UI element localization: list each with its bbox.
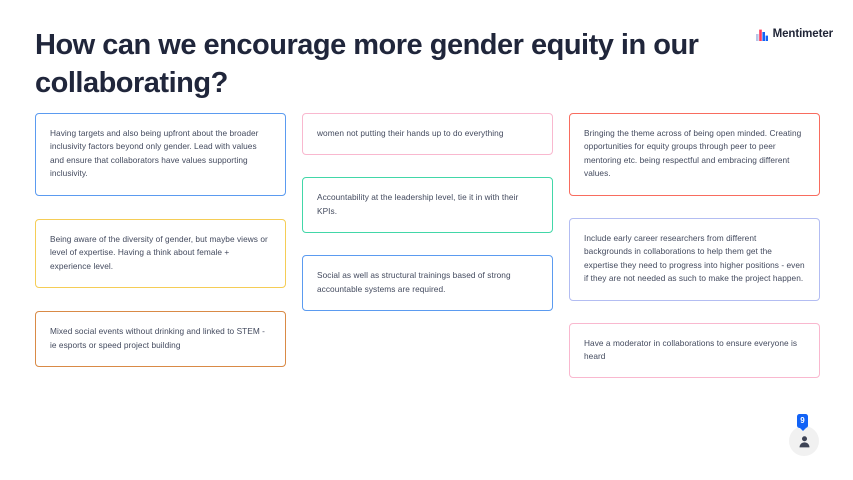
participant-count-badge: 9 [797,414,808,428]
board-column-1: Having targets and also being upfront ab… [35,113,286,367]
response-card[interactable]: Include early career researchers from di… [569,218,820,301]
response-card[interactable]: women not putting their hands up to do e… [302,113,553,155]
response-card[interactable]: Having targets and also being upfront ab… [35,113,286,196]
response-card[interactable]: Social as well as structural trainings b… [302,255,553,311]
response-card[interactable]: Accountability at the leadership level, … [302,177,553,233]
board-column-3: Bringing the theme across of being open … [569,113,820,378]
response-card[interactable]: Bringing the theme across of being open … [569,113,820,196]
mentimeter-bars-icon [756,29,768,41]
brand-name: Mentimeter [773,29,833,41]
participant-counter[interactable]: 9 [789,426,819,456]
slide-title: How can we encourage more gender equity … [35,26,725,103]
response-board: Having targets and also being upfront ab… [35,113,821,378]
board-column-2: women not putting their hands up to do e… [302,113,553,311]
response-card[interactable]: Have a moderator in collaborations to en… [569,323,820,379]
person-icon [798,435,811,448]
mentimeter-logo: Mentimeter [756,29,833,41]
response-card[interactable]: Being aware of the diversity of gender, … [35,219,286,288]
response-card[interactable]: Mixed social events without drinking and… [35,311,286,367]
